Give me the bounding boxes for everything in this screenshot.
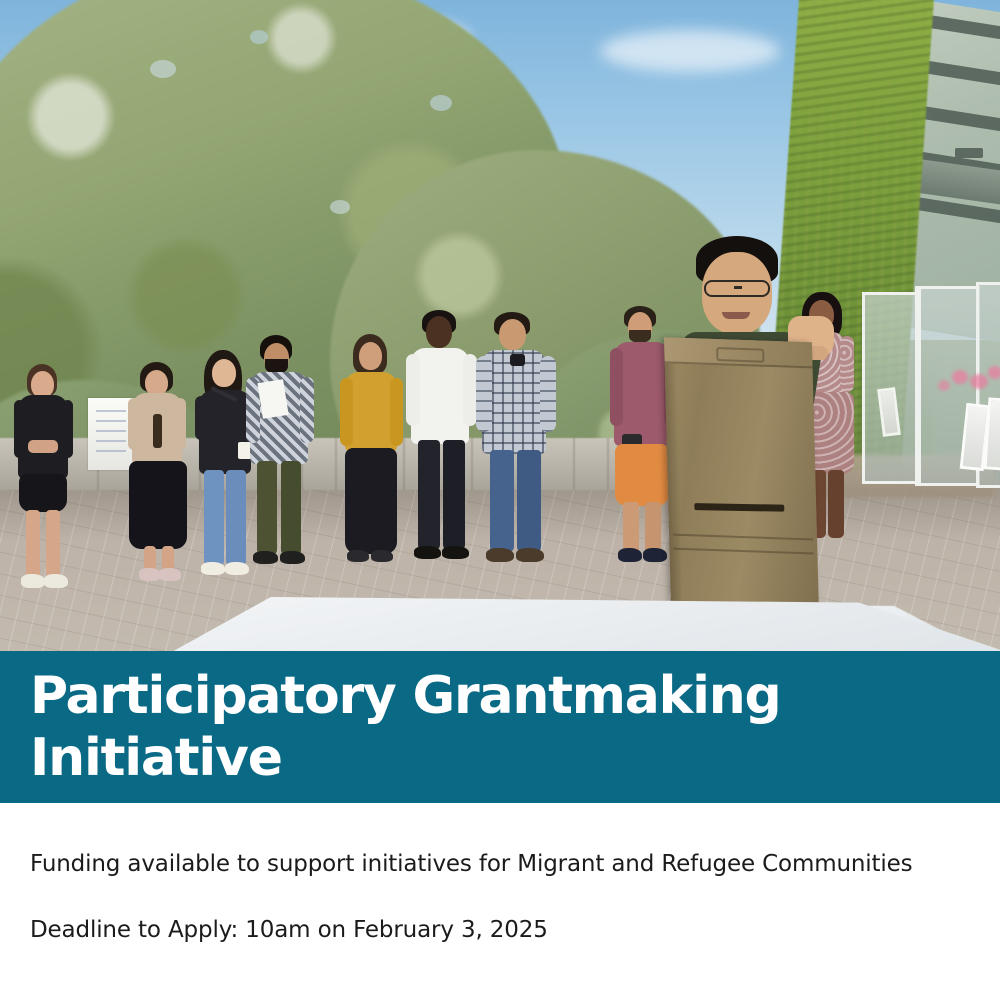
leg-jeans: [490, 450, 514, 552]
sandal: [159, 568, 181, 581]
cloud: [600, 30, 780, 72]
arm: [174, 398, 186, 450]
shoe: [486, 548, 514, 562]
arm: [540, 356, 556, 432]
funding-description: Funding available to support initiatives…: [30, 851, 913, 877]
box-seam: [673, 548, 813, 555]
title-banner: Participatory Grantmaking Initiative: [0, 651, 1000, 803]
shoe: [21, 574, 45, 588]
shoe: [44, 574, 68, 588]
shoe: [201, 562, 225, 575]
foliage-speck: [430, 95, 452, 111]
glasses-bridge: [734, 286, 742, 289]
paper-sheet: [257, 379, 288, 419]
wall-light: [955, 148, 983, 158]
arm: [406, 354, 420, 426]
shoe: [643, 548, 667, 562]
arm: [195, 396, 207, 440]
foliage-speck: [150, 60, 176, 78]
trousers: [345, 448, 397, 554]
arm: [340, 378, 353, 446]
glasses: [704, 280, 770, 297]
shoe: [280, 551, 305, 564]
leg: [418, 440, 440, 550]
foliage-speck: [330, 200, 350, 214]
arm: [128, 398, 140, 450]
arm: [463, 354, 477, 426]
pink-flower: [970, 374, 988, 389]
deadline-text: Deadline to Apply: 10am on February 3, 2…: [30, 917, 548, 943]
leg: [46, 510, 60, 578]
torso: [18, 395, 68, 479]
head: [359, 342, 382, 370]
shoe: [414, 546, 441, 559]
head: [426, 316, 452, 348]
leg-jeans: [226, 470, 246, 566]
foliage-speck: [250, 30, 268, 44]
shoe: [442, 546, 469, 559]
head: [31, 371, 54, 398]
head: [499, 319, 526, 350]
sandal: [371, 550, 393, 562]
bottle: [153, 414, 162, 448]
arm: [840, 336, 854, 392]
sunglasses-on-shirt: [510, 354, 525, 366]
leg: [443, 440, 465, 550]
page-title: Participatory Grantmaking Initiative: [30, 665, 970, 789]
leg: [623, 502, 639, 554]
shoe: [516, 548, 544, 562]
shoe: [618, 548, 642, 562]
ballot-slot: [694, 503, 784, 512]
shoe: [253, 551, 278, 564]
arm: [390, 378, 403, 446]
leg: [281, 461, 301, 555]
leg: [26, 510, 40, 578]
sandal: [347, 550, 369, 562]
shoe: [225, 562, 249, 575]
poster: Participatory Grantmaking Initiative Fun…: [0, 0, 1000, 1000]
arm: [476, 356, 492, 432]
head: [212, 359, 236, 387]
arm: [62, 400, 73, 458]
leg-jeans: [517, 450, 541, 552]
shorts: [615, 444, 669, 506]
body-section: Funding available to support initiatives…: [0, 803, 1000, 1000]
pink-flower: [988, 366, 1000, 379]
mouth: [722, 312, 750, 319]
hands: [28, 440, 58, 453]
box-seam: [673, 534, 813, 541]
skirt: [129, 461, 187, 549]
shorts: [19, 474, 67, 512]
leg: [828, 470, 844, 538]
arm: [300, 377, 314, 443]
sandal: [139, 568, 161, 581]
leg: [645, 502, 661, 554]
arm: [14, 400, 25, 458]
leg-jeans: [204, 470, 224, 566]
leg: [257, 461, 277, 555]
pink-flower: [952, 370, 968, 384]
door-mullion: [915, 286, 920, 486]
box-tape-mark: [716, 347, 764, 363]
pink-flower: [938, 380, 950, 391]
arm: [610, 348, 623, 426]
hero-photo: [0, 0, 1000, 651]
